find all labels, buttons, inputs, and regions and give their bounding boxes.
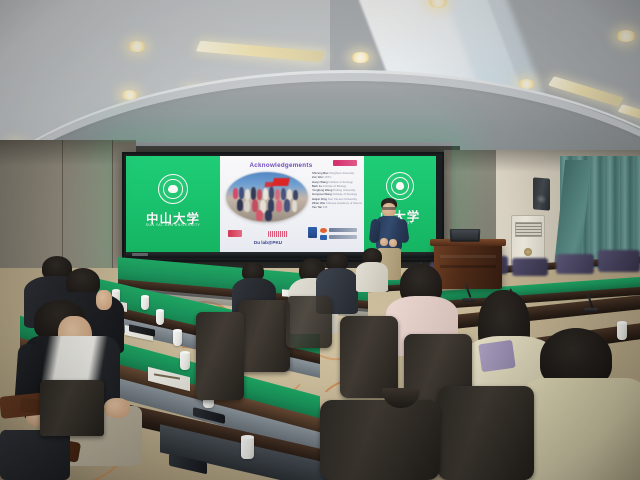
crowd-figure bbox=[284, 199, 290, 212]
crowd-figure bbox=[233, 188, 238, 199]
ack-name: Tao Tan bbox=[312, 205, 322, 209]
cup-rim bbox=[156, 309, 164, 312]
audience-top bbox=[356, 262, 388, 292]
crowd-figure bbox=[275, 189, 280, 200]
speaker-cone-icon bbox=[536, 194, 546, 205]
flag-icon bbox=[272, 178, 290, 186]
laptop-screen bbox=[452, 230, 479, 240]
wall-shadow bbox=[0, 140, 136, 166]
sponsor-logo-red-icon bbox=[228, 230, 242, 237]
pen-icon bbox=[154, 373, 180, 379]
crowd-figure bbox=[257, 189, 262, 200]
crowd-figure bbox=[265, 210, 272, 221]
sysu-crest-icon bbox=[386, 172, 414, 200]
audience-top-graphic bbox=[478, 340, 516, 372]
presenter-glasses-icon bbox=[382, 207, 396, 210]
chair-far bbox=[556, 254, 594, 274]
audience-right-far bbox=[356, 248, 388, 292]
sponsor-logo-text-icon bbox=[329, 228, 357, 232]
microphone-base bbox=[584, 308, 598, 312]
crowd-figure bbox=[269, 187, 274, 199]
chair-back-front[interactable] bbox=[320, 400, 440, 480]
cup-rim bbox=[180, 351, 190, 354]
sysu-english-name: SUN YAT-SEN UNIVERSITY bbox=[136, 223, 210, 227]
acknowledgement-list: Shiming Bao Tsinghua University Zun Wei … bbox=[312, 171, 362, 210]
ceiling-downlight bbox=[128, 41, 146, 52]
chair-far bbox=[598, 250, 640, 272]
conference-room-scene: 中山大学 SUN YAT-SEN UNIVERSITY 山大学 UNIVERSI… bbox=[0, 0, 640, 480]
sysu-crest-icon bbox=[158, 174, 188, 204]
crowd-figure bbox=[263, 188, 268, 200]
paper-cup bbox=[173, 330, 182, 346]
sysu-crest-core-icon bbox=[168, 185, 177, 193]
cup-rim bbox=[141, 295, 149, 298]
sysu-crest-inner-icon bbox=[391, 177, 409, 195]
crowd-figure bbox=[276, 200, 282, 212]
presentation-slide[interactable]: Acknowledgements bbox=[220, 156, 364, 252]
ack-affiliation: Tsinghua University bbox=[329, 171, 354, 175]
wall-speaker-icon bbox=[533, 177, 550, 210]
sponsor-logo-pink-bars-icon bbox=[268, 231, 288, 237]
paper-cup bbox=[141, 296, 149, 310]
ack-affiliation: KIZ bbox=[323, 205, 328, 209]
crowd-figure bbox=[244, 200, 250, 212]
ac-logo-icon bbox=[524, 248, 532, 256]
ack-affiliation: Chinese Academy of Sciences bbox=[326, 201, 362, 205]
sponsor-logo-text-icon bbox=[329, 235, 357, 239]
sponsor-logo-blue-r-icon bbox=[308, 227, 317, 238]
sponsor-logo-navy-icon bbox=[320, 235, 327, 240]
crowd-figure bbox=[245, 189, 250, 200]
paper-cup bbox=[156, 310, 164, 325]
screen-brand-label bbox=[132, 253, 148, 256]
podium-moulding bbox=[440, 255, 496, 258]
cup-rim bbox=[241, 435, 254, 439]
chair-back-center[interactable] bbox=[196, 312, 244, 400]
crowd-figure bbox=[239, 187, 244, 199]
chair-back-center[interactable] bbox=[286, 296, 332, 348]
ac-grille-icon bbox=[515, 222, 542, 237]
ack-row: Tao Tan KIZ bbox=[312, 205, 362, 209]
chair-back-right[interactable] bbox=[340, 316, 398, 398]
chair-seat-left[interactable] bbox=[0, 430, 70, 480]
presenter-hand-right bbox=[389, 239, 397, 247]
crowd-figure bbox=[292, 200, 297, 212]
presenter-arm-right bbox=[396, 218, 409, 243]
sysu-crest-inner-icon bbox=[163, 179, 182, 198]
chair-back-left[interactable] bbox=[40, 380, 104, 436]
chair-far bbox=[512, 258, 548, 276]
ceiling-downlight bbox=[351, 52, 370, 63]
laptop-on-podium[interactable] bbox=[450, 229, 481, 242]
ceiling bbox=[0, 0, 640, 152]
crowd-figure bbox=[237, 199, 243, 211]
screen-panel-left: 中山大学 SUN YAT-SEN UNIVERSITY bbox=[126, 156, 220, 252]
presenter-face bbox=[382, 203, 396, 217]
paper-cup bbox=[241, 436, 254, 459]
cup-rim bbox=[173, 329, 182, 332]
audience-hand bbox=[104, 398, 130, 418]
audience-right-front bbox=[520, 328, 640, 480]
presenter-hand-left bbox=[380, 238, 388, 246]
paper-cup bbox=[180, 352, 190, 370]
flag-icon bbox=[264, 182, 274, 187]
slide-title: Acknowledgements bbox=[234, 162, 328, 169]
audience-top bbox=[520, 378, 640, 480]
ceiling-downlight bbox=[616, 30, 636, 42]
chair-back-center[interactable] bbox=[238, 300, 290, 372]
peking-university-logo-icon bbox=[333, 160, 357, 166]
crowd-figure bbox=[256, 210, 263, 221]
crowd-figure bbox=[293, 190, 298, 200]
cup-rim bbox=[617, 321, 627, 324]
slide-group-photo bbox=[226, 172, 308, 222]
chair-back-right[interactable] bbox=[438, 386, 534, 480]
slide-caption: Du lab@PKU bbox=[236, 240, 300, 245]
sponsor-logo-orange-icon bbox=[320, 228, 327, 233]
sysu-crest-core-icon bbox=[396, 182, 404, 189]
